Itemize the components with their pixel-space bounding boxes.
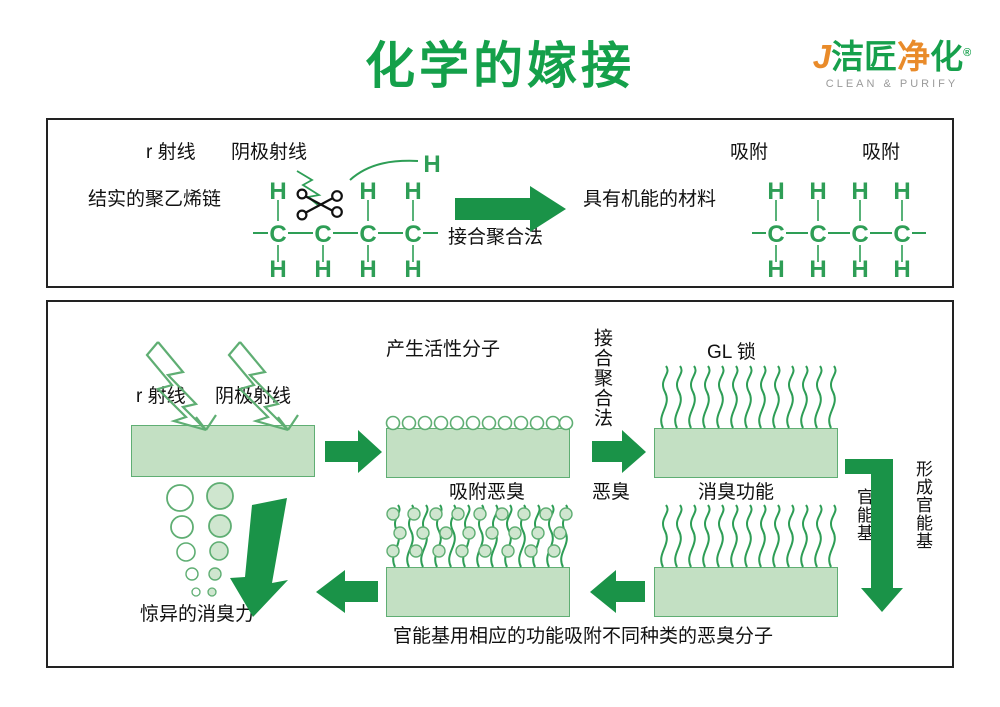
logo-char-j: J [813,38,831,75]
substrate-bar-functionalized [654,567,838,617]
label-ray-r-top: r 射线 [146,143,196,164]
label-ray-cathode-top: 阴极射线 [231,143,307,164]
logo-char-jing: 净 [897,38,930,75]
brand-logo: J洁匠净化® CLEAN & PURIFY [802,34,982,100]
substrate-bar-activated [386,428,570,478]
logo-char-jiang: 匠 [864,38,897,75]
label-ray-cathode-main: 阴极射线 [215,387,291,408]
label-amazing-deodor-power: 惊异的消臭力 [140,605,254,626]
label-odor: 恶臭 [592,483,630,504]
logo-subtitle: CLEAN & PURIFY [802,78,982,90]
label-graft-polymerization-top: 接合聚合法 [448,228,543,249]
logo-char-hua: 化 [930,38,963,75]
label-adsorb-odor: 吸附恶臭 [449,483,525,504]
substrate-bar-initial [131,425,315,477]
logo-wordmark: J洁匠净化® [802,34,982,76]
label-adsorb-top-1: 吸附 [730,143,768,164]
slide-canvas: 化学的嫁接 J洁匠净化® CLEAN & PURIFY r 射线 阴极射线 结实… [0,0,1000,707]
label-form-functional-group: 形成官能基 [910,460,935,550]
label-generate-active-molecules: 产生活性分子 [386,340,500,361]
label-polyethylene-chain: 结实的聚乙烯链 [88,190,221,211]
registered-mark-icon: ® [963,47,971,59]
label-functional-material: 具有机能的材料 [583,190,716,211]
logo-char-jie: 洁 [831,38,864,75]
label-functional-group: 官能基 [851,488,876,542]
label-gl-lock: GL 锁 [707,343,756,364]
label-deodorization-function: 消臭功能 [698,483,774,504]
substrate-bar-adsorbing [386,567,570,617]
label-adsorb-top-2: 吸附 [862,143,900,164]
substrate-bar-grafted [654,428,838,478]
label-ray-r-main: r 射线 [136,387,186,408]
label-graft-polymerization-main: 接合聚合法 [588,328,615,428]
label-caption-functional-group: 官能基用相应的功能吸附不同种类的恶臭分子 [393,627,773,648]
